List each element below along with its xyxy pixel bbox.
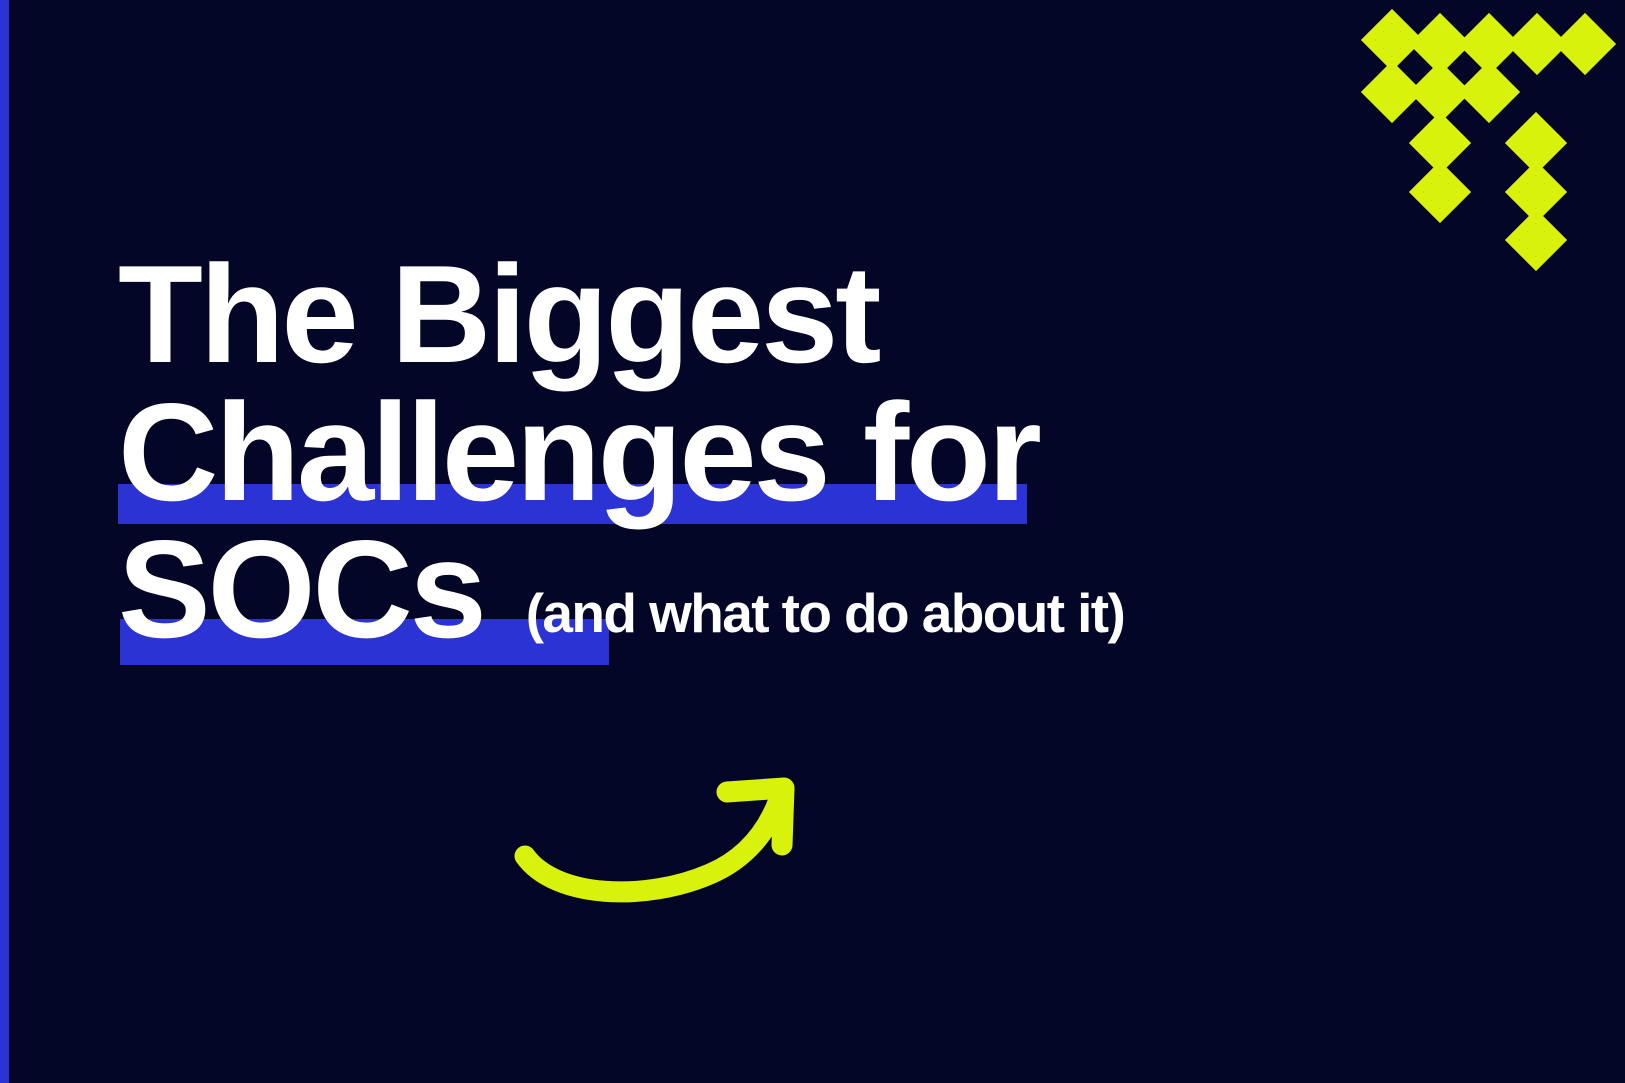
left-accent-strip: [0, 0, 9, 1083]
diamond-0: [1409, 13, 1471, 75]
headline-line-2: Challenges for: [118, 384, 1438, 522]
diamond-5: [1361, 61, 1423, 123]
curved-arrow-icon: [495, 770, 805, 910]
headline-line-1-text: The Biggest: [118, 237, 878, 392]
headline-line-3-text: SOCs: [118, 521, 484, 659]
diamond-2: [1506, 13, 1568, 75]
diamond-12: [1505, 209, 1567, 271]
diamond-9: [1505, 112, 1567, 174]
diamond-8: [1409, 112, 1471, 174]
diamond-7: [1458, 61, 1520, 123]
headline-line-1: The Biggest: [118, 246, 1438, 384]
diamond-4: [1361, 9, 1423, 71]
diamond-11: [1505, 161, 1567, 223]
slide-canvas: The Biggest Challenges for SOCs (and wha…: [0, 0, 1625, 1083]
diamond-1: [1458, 13, 1520, 75]
headline-line-2-text: Challenges for: [118, 375, 1039, 530]
headline-line-3: SOCs (and what to do about it): [118, 521, 1438, 659]
diamond-6: [1409, 61, 1471, 123]
headline-block: The Biggest Challenges for SOCs (and wha…: [118, 246, 1438, 659]
subtitle-text: (and what to do about it): [484, 586, 1125, 658]
diamond-3: [1554, 13, 1616, 75]
diamond-10: [1409, 161, 1471, 223]
